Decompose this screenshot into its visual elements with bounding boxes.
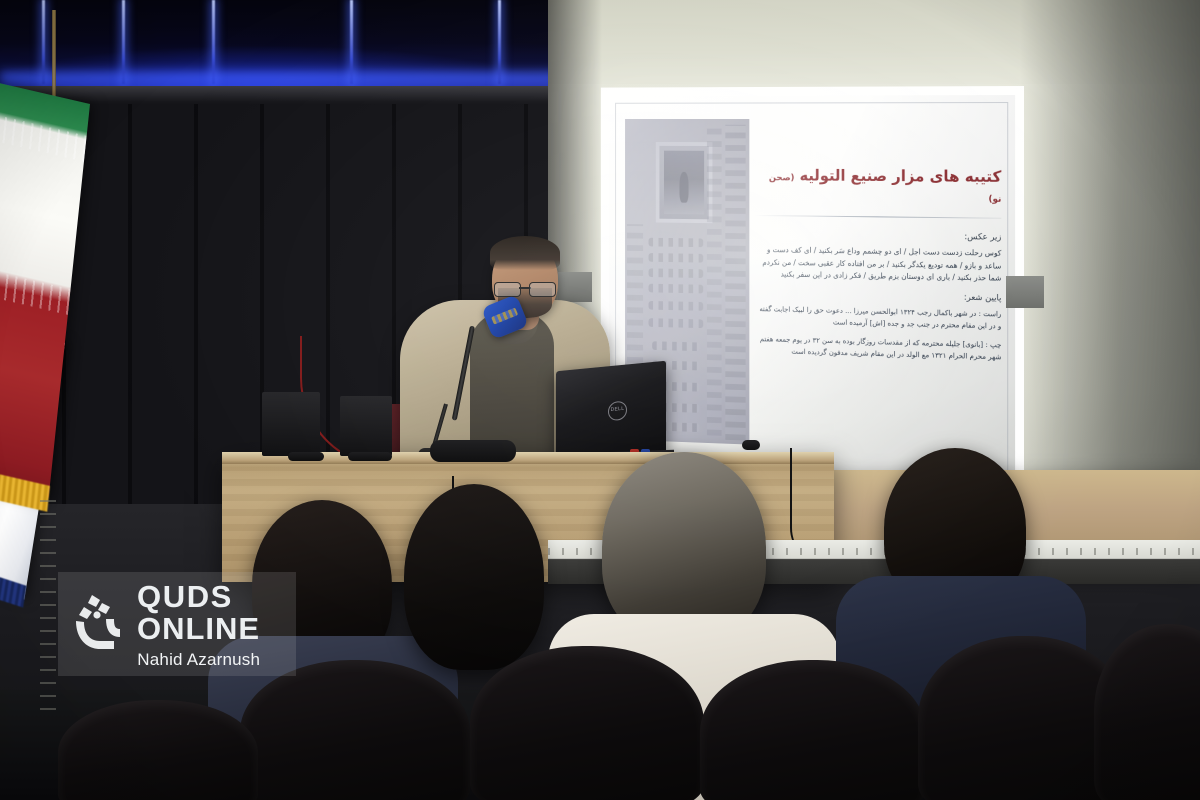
- inscription-row: [649, 238, 704, 247]
- quds-persian-calligraphy-logo: [66, 591, 128, 657]
- watermark-text: QUDS ONLINE Nahid Azarnush: [137, 581, 260, 668]
- glasses-lens-left: [494, 282, 521, 297]
- ceiling-led-cove: [0, 0, 560, 96]
- text-left: [بانوی] جلیله محترمه که از مقدسات روزگار…: [760, 335, 1001, 362]
- glasses-lens-right: [529, 282, 556, 297]
- auditorium-seat[interactable]: [700, 660, 926, 800]
- flag-kufic-band-top: [0, 112, 87, 161]
- watermark-brand-line1: QUDS: [137, 581, 260, 612]
- monitor-speaker-left: [262, 392, 320, 456]
- inscription-left: چپ : [بانوی] جلیله محترمه که از مقدسات ر…: [755, 334, 1001, 363]
- led-bar: [212, 0, 215, 84]
- label-left: چپ :: [985, 341, 1001, 350]
- dell-logo: DELL: [608, 400, 627, 421]
- watermark: QUDS ONLINE Nahid Azarnush: [58, 572, 296, 676]
- led-bar: [350, 0, 353, 84]
- led-bar: [122, 0, 125, 84]
- slide-title: کتیبه های مزار صنیع التولیه (صحن نو): [755, 166, 1001, 208]
- text-right: در شهر باکمال رجب ۱۳۲۴ ابوالحسن میرزا ..…: [759, 304, 1001, 330]
- monitor-speaker-right: [340, 396, 392, 456]
- watermark-photographer: Nahid Azarnush: [137, 651, 260, 668]
- slide-title-main: کتیبه های مزار صنیع التولیه: [800, 167, 1002, 186]
- lecture-hall-photo: کتیبه های مزار صنیع التولیه (صحن نو) زیر…: [0, 0, 1200, 800]
- desk-cable-tray: [742, 440, 760, 450]
- slide-text-block: کتیبه های مزار صنیع التولیه (صحن نو) زیر…: [755, 115, 1001, 470]
- inscription-row: [652, 341, 699, 351]
- inscription-row: [649, 301, 704, 311]
- watermark-brand-line2: ONLINE: [137, 613, 260, 644]
- inscription-row: [649, 268, 704, 278]
- speaker-glasses: [494, 282, 556, 295]
- auditorium-seat[interactable]: [58, 700, 258, 800]
- label-right: راست :: [979, 309, 1002, 318]
- auditorium-seat[interactable]: [470, 646, 704, 800]
- auditorium-seat[interactable]: [240, 660, 470, 800]
- portrait-frame: [656, 142, 713, 223]
- speaker-hair: [490, 236, 560, 270]
- desk-equipment-front: [430, 440, 516, 462]
- screen-mount-bracket: [558, 272, 592, 302]
- label-bottom-verse: پایین شعر:: [755, 289, 1001, 304]
- flag-fringe: [0, 563, 27, 607]
- perforated-panel-left: [40, 500, 56, 720]
- screen-mount-bracket: [1006, 276, 1044, 308]
- desk-pad-left: [288, 452, 324, 461]
- inscription-row: [649, 253, 704, 263]
- inscription-column: [707, 129, 722, 436]
- led-bar: [42, 0, 45, 84]
- desk-pad-right: [348, 452, 392, 461]
- inscription-row: [649, 318, 704, 328]
- poem-under-photo: کوس رحلت زدست دست اجل / ای دو چشمم وداع …: [755, 244, 1001, 284]
- title-divider: [755, 215, 1001, 219]
- audience-member-left: [404, 484, 544, 670]
- inscription-right: راست : در شهر باکمال رجب ۱۳۲۴ ابوالحسن م…: [755, 303, 1001, 332]
- inscription-column: [725, 125, 745, 441]
- portrait-figure: [664, 151, 704, 215]
- label-under-photo: زیر عکس:: [755, 230, 1001, 243]
- led-bar: [498, 0, 501, 84]
- flag-kufic-band-bottom: [0, 265, 71, 314]
- inscription-row: [649, 284, 704, 294]
